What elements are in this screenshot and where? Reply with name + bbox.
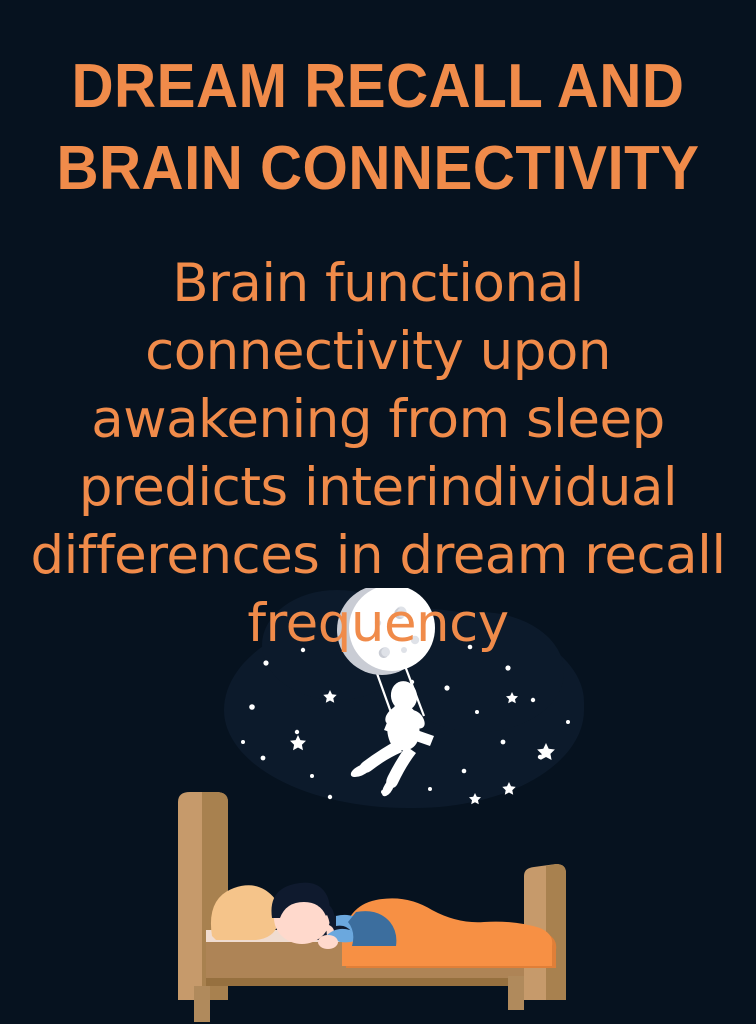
subtitle-line-2: connectivity upon <box>0 318 756 386</box>
title-line-2: BRAIN CONNECTIVITY <box>23 128 734 210</box>
dream-recall-poster: DREAM RECALL AND BRAIN CONNECTIVITY Brai… <box>0 0 756 1024</box>
bed-leg-left <box>194 986 210 1022</box>
sleeping-child <box>271 883 396 949</box>
subtitle-line-4: predicts interindividual <box>0 454 756 522</box>
bed-frame-shadow <box>206 978 558 986</box>
title-line-1: DREAM RECALL AND <box>23 46 734 128</box>
subtitle-line-5: differences in dream recall <box>0 522 756 590</box>
child-on-swing-silhouette <box>351 679 425 797</box>
bed-scene-illustration <box>150 790 610 1024</box>
subtitle-line-6: frequency <box>0 590 756 658</box>
poster-title: DREAM RECALL AND BRAIN CONNECTIVITY <box>0 46 756 210</box>
subtitle-line-3: awakening from sleep <box>0 386 756 454</box>
bed-leg-right <box>508 976 524 1010</box>
child-hand <box>318 935 338 949</box>
subtitle-line-1: Brain functional <box>0 250 756 318</box>
poster-subtitle: Brain functional connectivity upon awake… <box>0 250 756 658</box>
